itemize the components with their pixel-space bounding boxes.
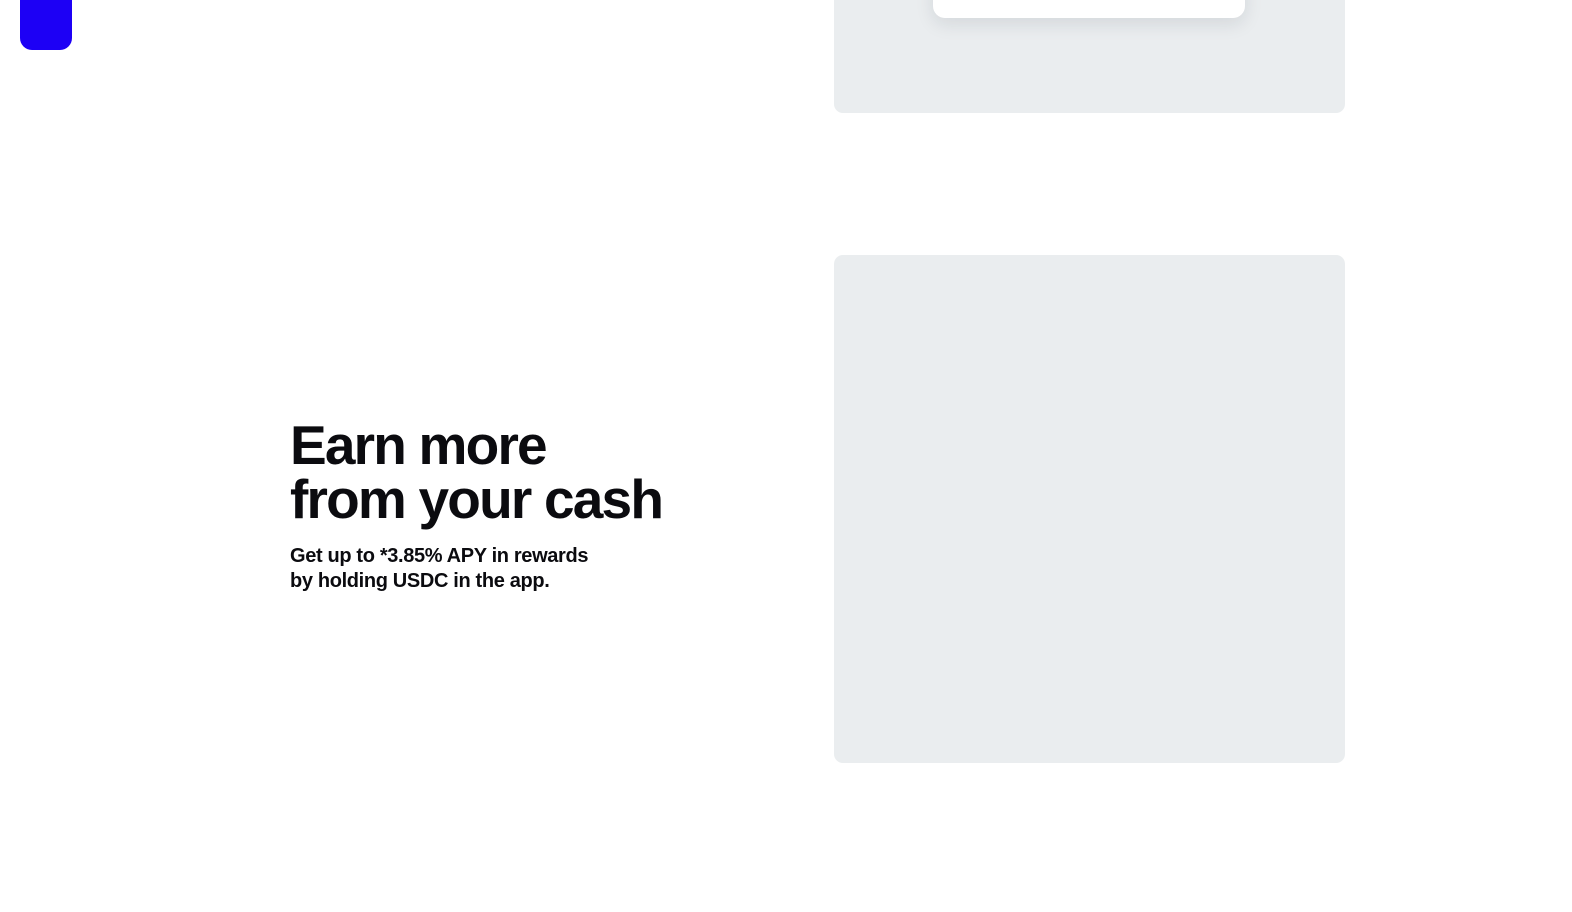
- hero-subcopy: Get up to *3.85% APY in rewards by holdi…: [290, 544, 720, 594]
- brand-logo[interactable]: [20, 0, 72, 50]
- headline-line-1: Earn more: [290, 418, 720, 472]
- headline-line-2: from your cash: [290, 472, 720, 526]
- subcopy-line-1: Get up to *3.85% APY in rewards: [290, 544, 720, 569]
- hero-copy: Earn more from your cash Get up to *3.85…: [290, 418, 720, 594]
- feature-panel-top: [834, 0, 1345, 113]
- preview-card[interactable]: [933, 0, 1245, 18]
- page-title: Earn more from your cash: [290, 418, 720, 526]
- feature-panel-apy: 3.85% APY: [834, 255, 1345, 763]
- subcopy-line-2: by holding USDC in the app.: [290, 569, 720, 594]
